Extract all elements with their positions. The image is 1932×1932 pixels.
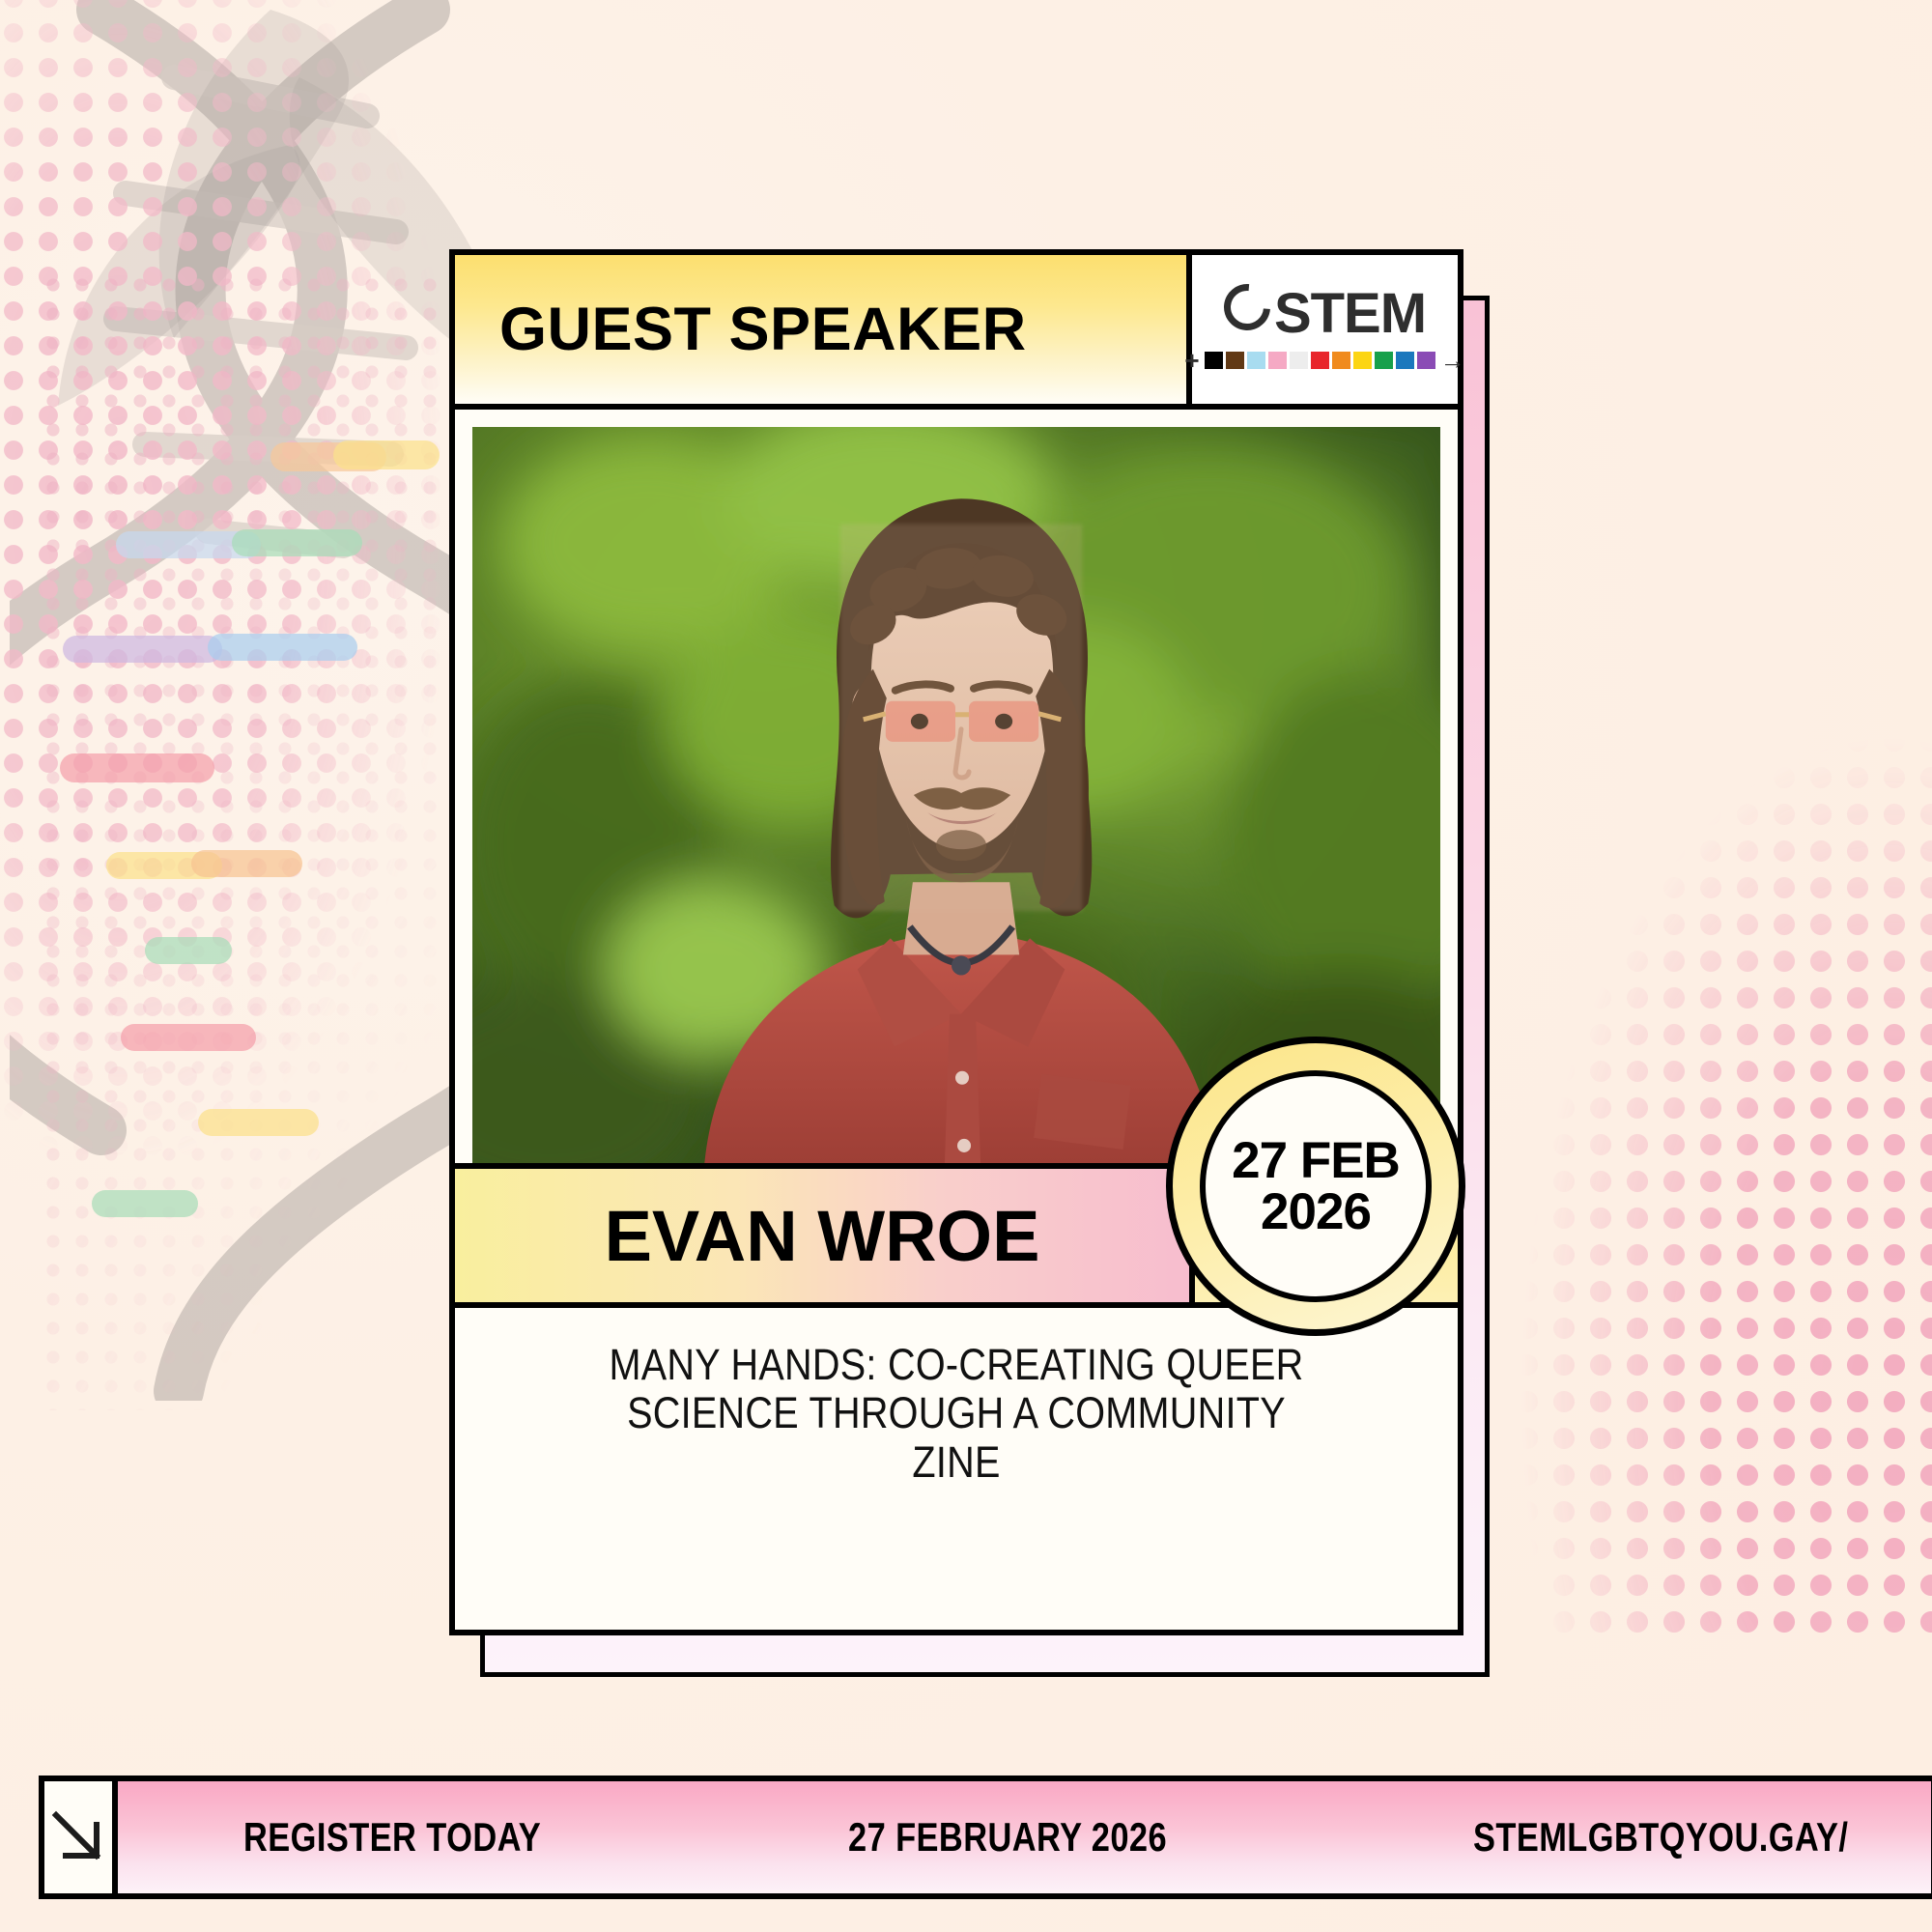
swatch-orange [1332, 352, 1350, 369]
footer-url-label[interactable]: STEMLGBTQYOU.GAY/ [1473, 1814, 1848, 1861]
gel-band [121, 1024, 256, 1051]
swatch-red [1311, 352, 1329, 369]
gel-band [333, 440, 440, 469]
gel-band [232, 529, 362, 556]
talk-title-line-1: MANY HANDS: CO-CREATING QUEER [559, 1341, 1353, 1389]
arrow-right-icon: → [1440, 348, 1465, 373]
event-date-line-2: 2026 [1261, 1186, 1371, 1237]
ostem-o-icon [1214, 274, 1280, 340]
gel-band [191, 850, 302, 877]
speaker-name-banner: EVAN WROE [455, 1169, 1195, 1302]
footer-content: REGISTER TODAY 27 FEBRUARY 2026 STEMLGBT… [118, 1776, 1932, 1899]
footer-arrow-box[interactable] [39, 1776, 118, 1899]
gel-band [60, 753, 214, 782]
swatch-brown [1226, 352, 1244, 369]
gel-band-graphic-group [87, 502, 493, 1372]
speaker-card: GUEST SPEAKER STEM + → [449, 249, 1463, 1635]
ostem-wordmark: STEM [1224, 286, 1426, 342]
guest-speaker-label: GUEST SPEAKER [499, 295, 1027, 364]
gel-band [92, 1190, 198, 1217]
guest-speaker-label-banner: GUEST SPEAKER [455, 255, 1192, 404]
gel-band [145, 937, 232, 964]
gel-band [208, 634, 357, 661]
event-date-badge: 27 FEB 2026 [1166, 1037, 1465, 1336]
swatch-green [1375, 352, 1393, 369]
arrow-down-right-icon [44, 1804, 112, 1871]
ostem-wordmark-text: STEM [1274, 286, 1426, 342]
footer-date-label: 27 FEBRUARY 2026 [848, 1814, 1167, 1861]
event-date-line-1: 27 FEB [1232, 1135, 1400, 1186]
footer-bar: REGISTER TODAY 27 FEBRUARY 2026 STEMLGBT… [39, 1776, 1891, 1899]
gel-band [198, 1109, 319, 1136]
speaker-name: EVAN WROE [605, 1195, 1040, 1277]
swatch-black [1205, 352, 1223, 369]
ostem-progress-flag-stripe: + → [1184, 348, 1464, 373]
plus-icon: + [1184, 348, 1199, 373]
talk-title-line-3: ZINE [559, 1438, 1353, 1487]
swatch-blue [1396, 352, 1414, 369]
event-date-badge-inner: 27 FEB 2026 [1200, 1070, 1432, 1302]
swatch-white [1290, 352, 1308, 369]
talk-title-line-2: SCIENCE THROUGH A COMMUNITY [559, 1389, 1353, 1437]
swatch-pink [1268, 352, 1287, 369]
gel-band [63, 636, 222, 663]
card-header: GUEST SPEAKER STEM + → [455, 255, 1458, 410]
ostem-logo: STEM + → [1192, 255, 1458, 404]
register-today-label[interactable]: REGISTER TODAY [243, 1814, 541, 1861]
swatch-light-blue [1247, 352, 1265, 369]
swatch-yellow [1353, 352, 1372, 369]
swatch-purple [1417, 352, 1435, 369]
